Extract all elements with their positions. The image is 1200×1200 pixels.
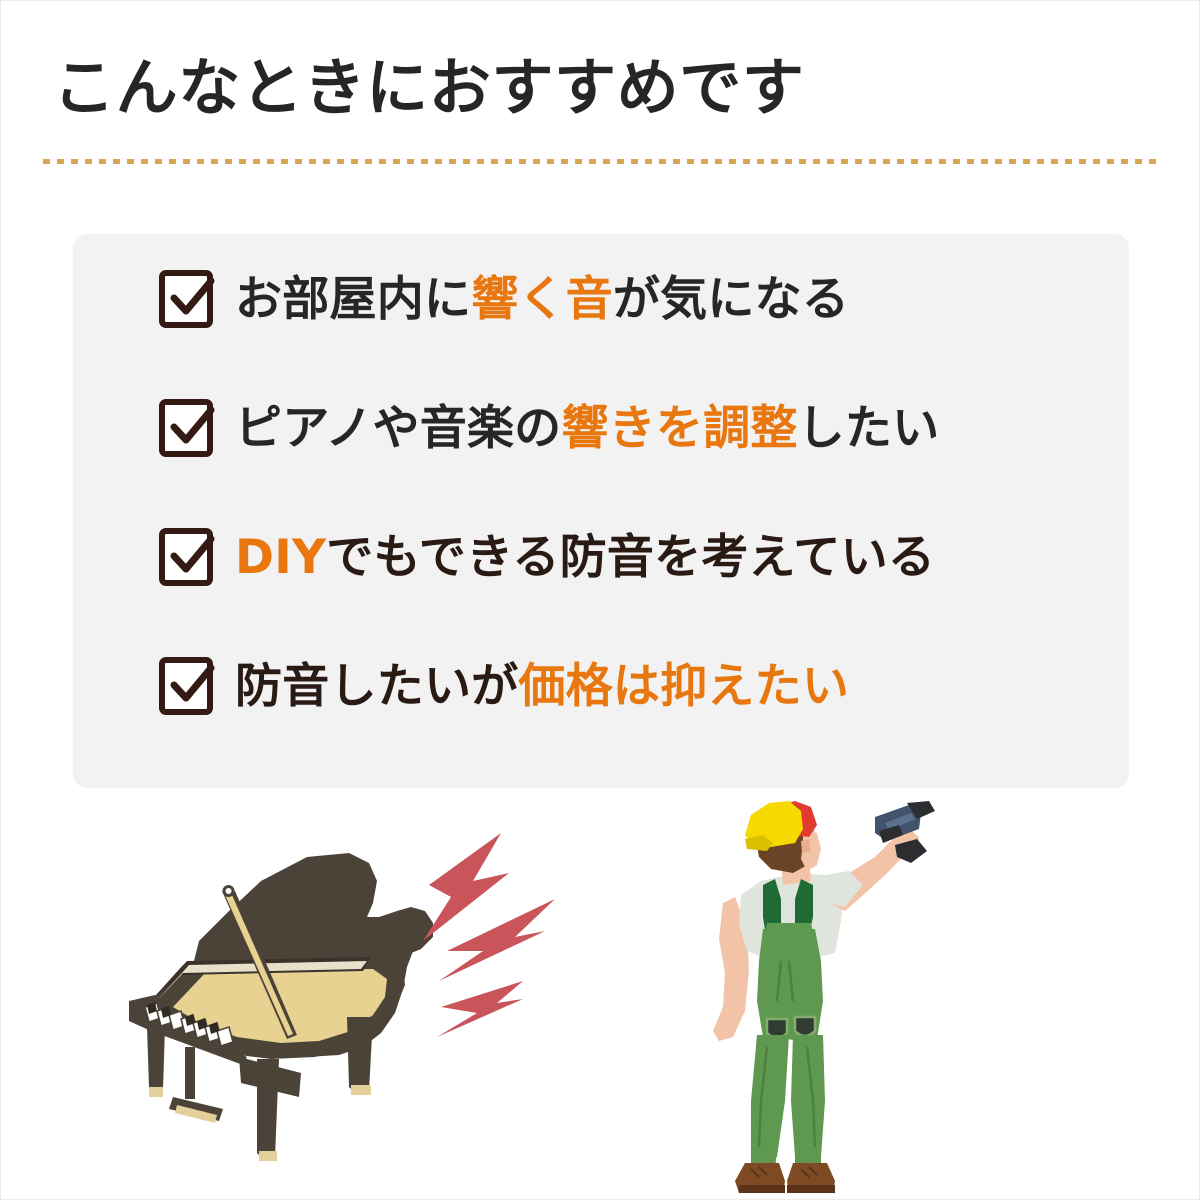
list-item-label: 防音したいが価格は抑えたい bbox=[235, 663, 849, 710]
checkmark-icon bbox=[159, 270, 213, 328]
list-item-segment: でもできる防音を考えている bbox=[326, 530, 935, 585]
promo-panel-page: こんなときにおすすめです お部屋内に響く音が気になる bbox=[0, 0, 1200, 1200]
checklist: お部屋内に響く音が気になる ピアノや音楽の響きを調整したい DIYで bbox=[73, 234, 1129, 788]
list-item: ピアノや音楽の響きを調整したい bbox=[159, 397, 939, 459]
grand-piano-illustration bbox=[111, 819, 581, 1179]
checkmark-icon bbox=[159, 399, 213, 457]
list-item-label: DIYでもできる防音を考えている bbox=[235, 534, 935, 581]
checkmark-icon bbox=[159, 528, 213, 586]
list-item: お部屋内に響く音が気になる bbox=[159, 268, 849, 330]
list-item-segment: したい bbox=[798, 401, 940, 456]
list-item-label: お部屋内に響く音が気になる bbox=[235, 276, 849, 323]
list-item-label: ピアノや音楽の響きを調整したい bbox=[235, 405, 939, 452]
list-item-segment: が気になる bbox=[613, 272, 849, 327]
list-item-segment-highlight: 響きを調整 bbox=[561, 401, 797, 456]
list-item-segment-highlight: DIY bbox=[235, 530, 326, 585]
worker-with-drill-illustration bbox=[689, 801, 949, 1199]
list-item-segment: 防音したいが bbox=[235, 659, 518, 714]
checkmark-icon bbox=[159, 657, 213, 715]
list-item-segment: お部屋内に bbox=[235, 272, 471, 327]
list-item-segment-highlight: 価格は抑えたい bbox=[518, 659, 849, 714]
list-item-segment: ピアノや音楽の bbox=[235, 401, 561, 456]
dashed-divider bbox=[43, 159, 1161, 164]
page-title: こんなときにおすすめです bbox=[53, 51, 1153, 124]
list-item: DIYでもできる防音を考えている bbox=[159, 526, 935, 588]
benefits-card: お部屋内に響く音が気になる ピアノや音楽の響きを調整したい DIYで bbox=[73, 234, 1129, 788]
list-item-segment-highlight: 響く音 bbox=[471, 272, 613, 327]
list-item: 防音したいが価格は抑えたい bbox=[159, 655, 849, 717]
